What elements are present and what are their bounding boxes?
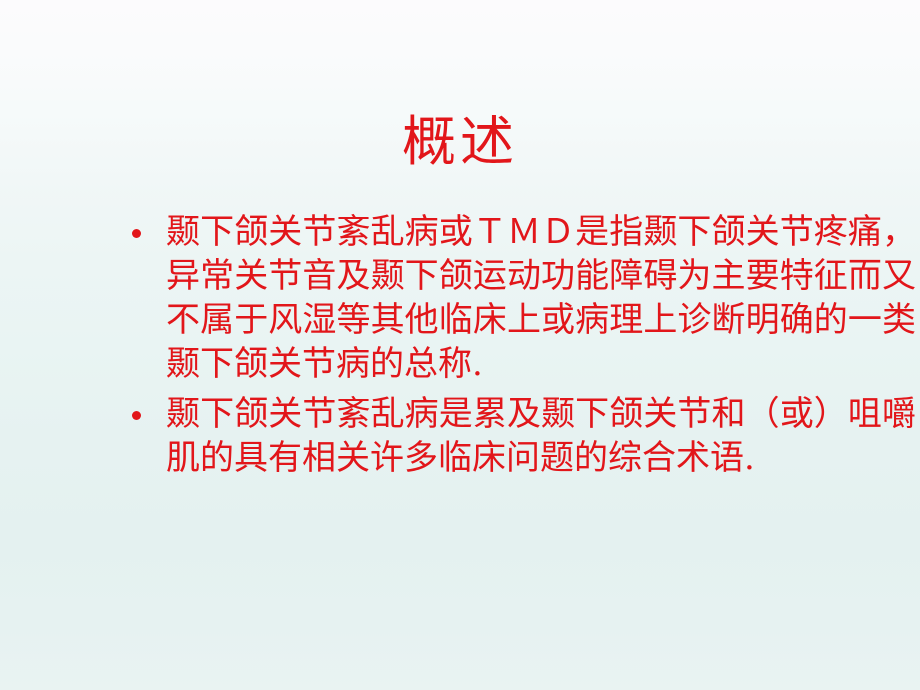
round-bullet-icon (132, 411, 141, 420)
list-item-text: 颞下颌关节紊乱病或ＴＭＤ是指颞下颌关节疼痛，异常关节音及颞下颌运动功能障碍为主要… (166, 210, 916, 386)
list-item: 颞下颌关节紊乱病或ＴＭＤ是指颞下颌关节疼痛，异常关节音及颞下颌运动功能障碍为主要… (126, 210, 916, 386)
list-item: 颞下颌关节紊乱病是累及颞下颌关节和（或）咀嚼肌的具有相关许多临床问题的综合术语. (126, 392, 916, 480)
round-bullet-icon (132, 229, 141, 238)
list-item-text: 颞下颌关节紊乱病是累及颞下颌关节和（或）咀嚼肌的具有相关许多临床问题的综合术语. (166, 392, 916, 480)
slide-body-content: 颞下颌关节紊乱病或ＴＭＤ是指颞下颌关节疼痛，异常关节音及颞下颌运动功能障碍为主要… (126, 210, 916, 480)
page-title: 概述 (0, 114, 920, 171)
presentation-slide: 概述 颞下颌关节紊乱病或ＴＭＤ是指颞下颌关节疼痛，异常关节音及颞下颌运动功能障碍… (0, 0, 920, 690)
